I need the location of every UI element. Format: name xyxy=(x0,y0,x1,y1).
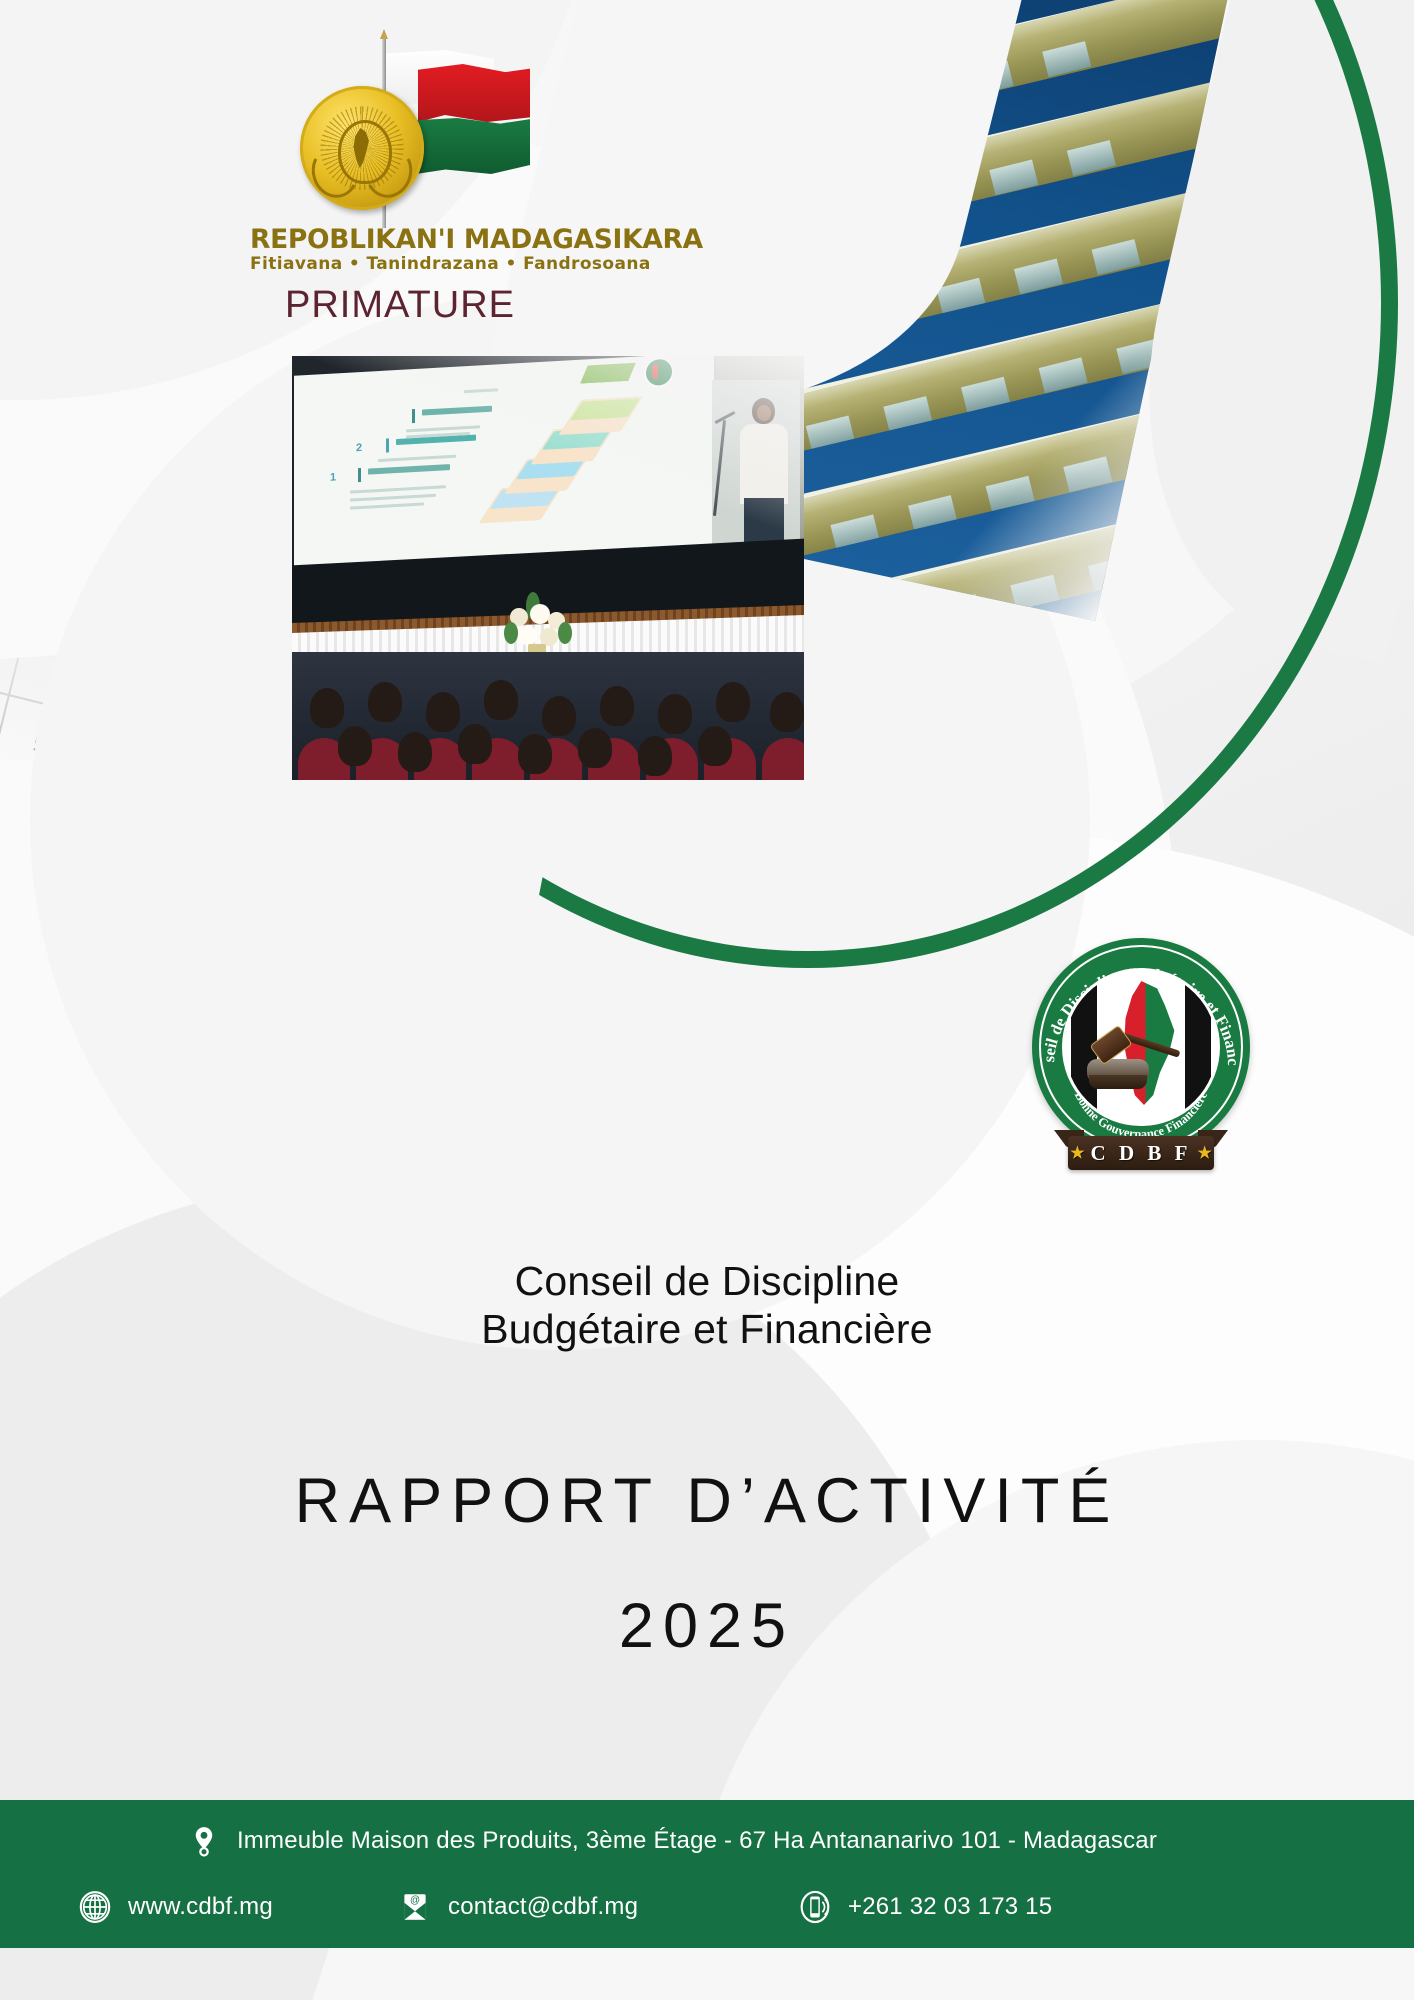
madagascar-coat-of-arms-icon xyxy=(300,86,424,210)
map-pin-icon xyxy=(187,1824,221,1858)
madagascar-emblem-group: REPOBLIKAN'I MADAGASIKARA Fitiavana • Ta… xyxy=(250,38,550,268)
footer-links-row: www.cdbf.mg @ contact@cdbf.mg xyxy=(0,1876,1414,1938)
organization-title: Conseil de Discipline Budgétaire et Fina… xyxy=(0,1258,1414,1353)
footer-address-item: Immeuble Maison des Produits, 3ème Étage… xyxy=(187,1824,1157,1858)
report-year: 2025 xyxy=(0,1590,1414,1662)
svg-text:@: @ xyxy=(410,1895,420,1906)
footer-phone-text: +261 32 03 173 15 xyxy=(848,1893,1052,1921)
republic-title: REPOBLIKAN'I MADAGASIKARA xyxy=(250,224,550,255)
madagascar-flag-green-band xyxy=(416,118,530,174)
cdbf-ribbon: ★ C D B F ★ xyxy=(1054,1130,1228,1174)
cdbf-ribbon-text: C D B F xyxy=(1091,1141,1192,1166)
contact-footer: Immeuble Maison des Produits, 3ème Étage… xyxy=(0,1800,1414,1948)
report-cover-page: 162 20 14'084 1 30'836 24'81 227 17 162.… xyxy=(0,0,1414,2000)
footer-address-text: Immeuble Maison des Produits, 3ème Étage… xyxy=(237,1827,1157,1855)
institution-name: PRIMATURE xyxy=(250,284,550,327)
globe-icon xyxy=(78,1890,112,1924)
footer-website-item[interactable]: www.cdbf.mg xyxy=(78,1890,273,1924)
star-icon-left: ★ xyxy=(1070,1143,1084,1163)
madagascar-flag-red-band xyxy=(418,64,530,122)
organization-title-line-2: Budgétaire et Financière xyxy=(0,1306,1414,1354)
footer-address-row: Immeuble Maison des Produits, 3ème Étage… xyxy=(0,1810,1414,1872)
organization-title-line-1: Conseil de Discipline xyxy=(0,1258,1414,1306)
footer-phone-item[interactable]: +261 32 03 173 15 xyxy=(798,1890,1052,1924)
star-icon-right: ★ xyxy=(1197,1143,1211,1163)
footer-email-text: contact@cdbf.mg xyxy=(448,1893,638,1921)
envelope-icon: @ xyxy=(398,1890,432,1924)
page-bottom-strip xyxy=(0,1948,1414,2000)
report-title: RAPPORT D’ACTIVITÉ xyxy=(0,1465,1414,1537)
conference-hall-photo: 1 2 xyxy=(292,356,804,780)
footer-website-text: www.cdbf.mg xyxy=(128,1893,273,1921)
republic-motto: Fitiavana • Tanindrazana • Fandrosoana xyxy=(250,254,550,274)
footer-email-item[interactable]: @ contact@cdbf.mg xyxy=(398,1890,638,1924)
mobile-phone-icon xyxy=(798,1890,832,1924)
cdbf-seal: Conseil de Discipline Budgétaire et Fina… xyxy=(1032,938,1250,1156)
